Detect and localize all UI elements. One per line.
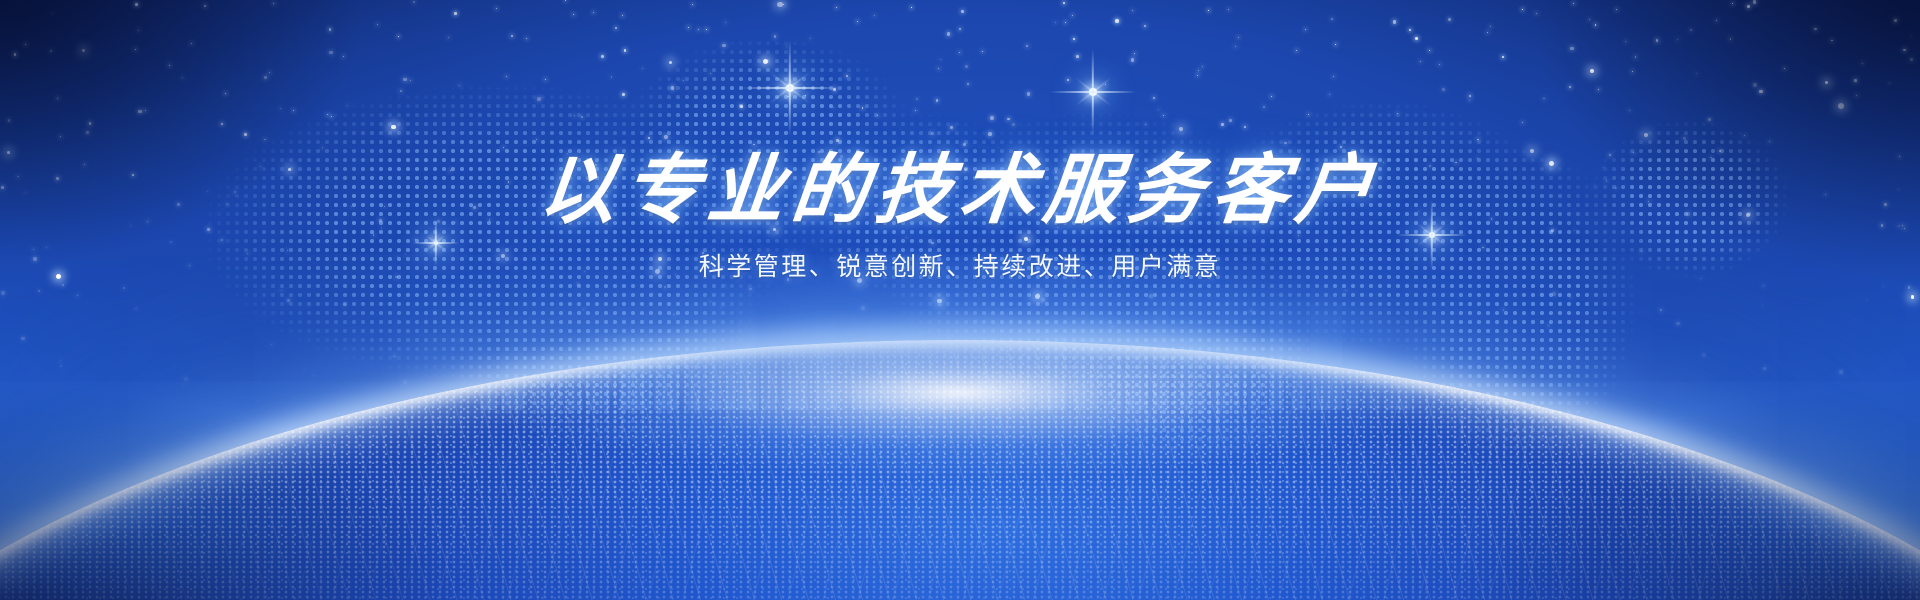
star bbox=[675, 274, 676, 275]
star bbox=[1687, 212, 1690, 215]
star bbox=[598, 288, 599, 289]
star bbox=[652, 293, 653, 294]
star bbox=[836, 7, 837, 8]
star bbox=[840, 155, 843, 158]
star bbox=[1574, 230, 1575, 231]
star bbox=[84, 164, 85, 165]
star bbox=[1744, 135, 1745, 136]
star bbox=[931, 132, 935, 136]
star bbox=[861, 306, 865, 310]
star bbox=[1439, 64, 1440, 65]
star bbox=[1883, 286, 1885, 288]
star bbox=[1331, 18, 1333, 20]
star bbox=[1442, 88, 1445, 91]
star bbox=[489, 219, 491, 221]
star bbox=[1594, 186, 1595, 187]
star bbox=[1238, 37, 1239, 38]
flare-ray bbox=[1417, 223, 1446, 246]
star bbox=[1716, 20, 1717, 21]
star bbox=[584, 271, 586, 273]
star bbox=[1270, 159, 1273, 162]
star-bright bbox=[1838, 103, 1844, 109]
star-bright bbox=[1549, 161, 1555, 167]
star bbox=[1696, 73, 1697, 74]
star bbox=[1477, 139, 1478, 140]
star bbox=[138, 30, 140, 32]
star bbox=[1109, 279, 1110, 280]
star bbox=[130, 225, 131, 226]
star bbox=[1229, 119, 1232, 122]
star-bright bbox=[1035, 294, 1040, 299]
star bbox=[1753, 0, 1756, 3]
star bbox=[1012, 123, 1015, 126]
star bbox=[1894, 19, 1898, 23]
star bbox=[1090, 211, 1091, 212]
star bbox=[1134, 53, 1135, 54]
star bbox=[1616, 9, 1618, 11]
star-bright bbox=[857, 278, 862, 283]
star-bright bbox=[658, 257, 662, 261]
star bbox=[595, 164, 597, 166]
star bbox=[373, 234, 375, 236]
star bbox=[916, 98, 918, 100]
star bbox=[1884, 203, 1887, 206]
star bbox=[1656, 39, 1659, 42]
star bbox=[787, 278, 790, 281]
star bbox=[1055, 22, 1056, 23]
banner-headline: 以专业的技术服务客户 bbox=[536, 152, 1384, 228]
star bbox=[496, 8, 497, 9]
star bbox=[260, 166, 261, 167]
star bbox=[1502, 56, 1504, 58]
star bbox=[931, 242, 934, 245]
star bbox=[226, 203, 228, 205]
star bbox=[1547, 324, 1550, 327]
star bbox=[877, 115, 878, 116]
star bbox=[537, 97, 541, 101]
star bbox=[343, 56, 344, 57]
star bbox=[14, 53, 16, 55]
star-bright bbox=[56, 274, 61, 279]
star bbox=[828, 152, 829, 153]
star bbox=[384, 206, 385, 207]
star bbox=[169, 65, 170, 66]
star bbox=[1369, 241, 1370, 242]
star bbox=[1677, 39, 1678, 40]
star bbox=[182, 77, 183, 78]
star-bright bbox=[1911, 295, 1914, 298]
star bbox=[511, 35, 513, 37]
star bbox=[1769, 141, 1770, 142]
star bbox=[1732, 3, 1733, 4]
star bbox=[787, 96, 788, 97]
star bbox=[874, 15, 875, 16]
star bbox=[33, 257, 37, 261]
star bbox=[454, 12, 456, 14]
star bbox=[1041, 298, 1045, 302]
star bbox=[398, 36, 399, 37]
star bbox=[1144, 25, 1146, 27]
flare-ray bbox=[1075, 78, 1111, 107]
star bbox=[135, 3, 138, 6]
star bbox=[60, 136, 61, 137]
star bbox=[526, 38, 527, 39]
star bbox=[1132, 10, 1133, 11]
star bbox=[1753, 83, 1757, 87]
star bbox=[1397, 113, 1398, 114]
star bbox=[725, 285, 726, 286]
flare-ray bbox=[426, 235, 446, 251]
star bbox=[1029, 256, 1030, 257]
star bbox=[576, 282, 580, 286]
star bbox=[400, 90, 401, 91]
star bbox=[1076, 55, 1079, 58]
star bbox=[648, 137, 650, 139]
flare-ray bbox=[413, 242, 459, 244]
banner-content: 以专业的技术服务客户 科学管理、锐意创新、持续改进、用户满意 bbox=[0, 0, 1920, 279]
star bbox=[1244, 126, 1246, 128]
star bbox=[413, 1, 415, 3]
star bbox=[1908, 286, 1911, 289]
star bbox=[1609, 154, 1611, 156]
star bbox=[1063, 2, 1064, 3]
star bbox=[1393, 20, 1396, 23]
star bbox=[720, 268, 721, 269]
star bbox=[1033, 285, 1034, 286]
glowing-earth-horizon bbox=[0, 340, 1920, 600]
banner-subtitle: 科学管理、锐意创新、持续改进、用户满意 bbox=[0, 254, 1920, 279]
star bbox=[1198, 70, 1199, 71]
star bbox=[455, 222, 456, 223]
star bbox=[673, 313, 675, 315]
flare-ray bbox=[789, 40, 791, 136]
star bbox=[1333, 76, 1334, 77]
star bbox=[1603, 167, 1604, 168]
star bbox=[1158, 109, 1159, 110]
star bbox=[536, 139, 537, 140]
flare-ray bbox=[1417, 223, 1446, 246]
star bbox=[615, 27, 617, 29]
star bbox=[753, 144, 754, 145]
star bbox=[1010, 231, 1012, 233]
star bbox=[8, 119, 10, 121]
star bbox=[1354, 181, 1355, 182]
star bbox=[1056, 257, 1057, 258]
star bbox=[1253, 229, 1254, 230]
star bbox=[1625, 41, 1626, 42]
star bbox=[503, 147, 504, 148]
star bbox=[33, 249, 34, 250]
flare-ray bbox=[1075, 78, 1111, 107]
star bbox=[293, 110, 294, 111]
star bbox=[545, 79, 546, 80]
star bbox=[1409, 29, 1411, 31]
star bbox=[1153, 97, 1154, 98]
star bbox=[593, 12, 594, 13]
star bbox=[191, 43, 193, 45]
star bbox=[702, 252, 703, 253]
star bbox=[1455, 162, 1457, 164]
star bbox=[783, 4, 784, 5]
star bbox=[911, 7, 912, 8]
star-bright bbox=[1530, 149, 1535, 154]
star bbox=[1683, 137, 1686, 140]
star bbox=[1131, 58, 1134, 61]
star bbox=[710, 73, 711, 74]
star bbox=[170, 241, 172, 243]
star bbox=[264, 76, 267, 79]
star bbox=[1814, 28, 1817, 31]
star bbox=[57, 98, 58, 99]
star bbox=[672, 157, 675, 160]
star bbox=[25, 192, 26, 193]
star bbox=[1007, 118, 1010, 121]
star bbox=[1111, 326, 1113, 328]
star bbox=[749, 288, 752, 291]
star bbox=[1298, 235, 1299, 236]
star bbox=[1856, 95, 1857, 96]
star bbox=[1759, 90, 1763, 94]
star bbox=[740, 105, 744, 109]
city-light-streaks bbox=[0, 340, 1920, 600]
star bbox=[939, 303, 943, 307]
star bbox=[664, 286, 667, 289]
star bbox=[379, 219, 382, 222]
star bbox=[889, 178, 890, 179]
star bbox=[1573, 3, 1574, 4]
star bbox=[189, 265, 190, 266]
star bbox=[1228, 9, 1229, 10]
star bbox=[940, 59, 941, 60]
star bbox=[450, 170, 451, 171]
star-bright bbox=[288, 168, 291, 171]
star bbox=[786, 46, 788, 48]
star bbox=[833, 88, 836, 91]
star bbox=[207, 191, 208, 192]
star bbox=[1469, 100, 1470, 101]
star bbox=[834, 260, 835, 261]
star bbox=[1235, 46, 1236, 47]
star bbox=[1690, 29, 1692, 31]
star bbox=[805, 95, 807, 97]
star bbox=[403, 78, 407, 82]
star bbox=[1701, 187, 1702, 188]
star bbox=[132, 174, 134, 176]
star bbox=[77, 295, 78, 296]
star bbox=[25, 44, 26, 45]
star bbox=[1629, 110, 1630, 111]
star bbox=[1490, 26, 1491, 27]
star bbox=[573, 14, 574, 15]
star bbox=[1345, 290, 1346, 291]
star bbox=[56, 177, 59, 180]
star bbox=[977, 320, 978, 321]
star bbox=[1700, 278, 1702, 280]
star bbox=[89, 122, 92, 125]
star bbox=[601, 55, 604, 58]
star bbox=[1570, 47, 1573, 50]
star bbox=[683, 80, 684, 81]
star bbox=[52, 13, 53, 14]
star bbox=[327, 114, 328, 115]
star bbox=[1169, 302, 1170, 303]
star bbox=[322, 147, 323, 148]
star bbox=[642, 68, 643, 69]
star bbox=[982, 51, 983, 52]
star bbox=[1632, 71, 1633, 72]
star bbox=[448, 37, 449, 38]
star bbox=[1263, 106, 1265, 108]
star-bright bbox=[1746, 213, 1750, 217]
star-bright bbox=[937, 299, 942, 304]
flare-core bbox=[1429, 232, 1435, 238]
star bbox=[247, 253, 248, 254]
star bbox=[664, 135, 668, 139]
flare-ray bbox=[742, 87, 838, 89]
star bbox=[1503, 309, 1504, 310]
star bbox=[671, 86, 675, 90]
star bbox=[506, 76, 507, 77]
star bbox=[940, 164, 943, 167]
star bbox=[792, 253, 793, 254]
star bbox=[1522, 9, 1523, 10]
star bbox=[1383, 162, 1384, 163]
star bbox=[1825, 194, 1826, 195]
star bbox=[627, 271, 628, 272]
star-bright bbox=[1644, 133, 1649, 138]
star-bright bbox=[1825, 81, 1828, 84]
star bbox=[329, 28, 332, 31]
star-bright bbox=[7, 151, 10, 154]
star bbox=[1904, 228, 1905, 229]
star bbox=[1411, 332, 1412, 333]
star bbox=[297, 186, 298, 187]
star bbox=[1487, 32, 1488, 33]
star bbox=[1268, 198, 1270, 200]
star bbox=[221, 123, 223, 125]
star bbox=[1418, 211, 1419, 212]
star bbox=[1784, 68, 1785, 69]
star bbox=[473, 206, 476, 209]
star bbox=[207, 228, 210, 231]
star bbox=[1115, 19, 1119, 23]
star bbox=[135, 308, 137, 310]
star bbox=[1747, 5, 1750, 8]
star bbox=[221, 239, 223, 241]
star bbox=[331, 116, 332, 117]
star bbox=[1902, 225, 1903, 226]
star bbox=[234, 191, 236, 193]
hero-banner: 以专业的技术服务客户 科学管理、锐意创新、持续改进、用户满意 bbox=[0, 0, 1920, 600]
star bbox=[1482, 247, 1484, 249]
star bbox=[86, 131, 89, 134]
star bbox=[1708, 118, 1711, 121]
flare-ray bbox=[770, 72, 810, 104]
star bbox=[721, 307, 722, 308]
star bbox=[434, 312, 435, 313]
star bbox=[508, 181, 509, 182]
star bbox=[818, 151, 820, 153]
star bbox=[1210, 276, 1212, 278]
star bbox=[1387, 312, 1388, 313]
star bbox=[948, 336, 950, 338]
star bbox=[1027, 92, 1031, 96]
flare-ray bbox=[1397, 234, 1467, 236]
star bbox=[1163, 115, 1164, 116]
star bbox=[1635, 56, 1637, 58]
star bbox=[1606, 180, 1608, 182]
star bbox=[1065, 22, 1066, 23]
star bbox=[1145, 124, 1146, 125]
star bbox=[1197, 75, 1198, 76]
star bbox=[846, 75, 848, 77]
star bbox=[397, 256, 398, 257]
star bbox=[947, 32, 950, 35]
star-bright bbox=[777, 2, 783, 8]
star bbox=[1448, 18, 1451, 21]
star bbox=[1627, 333, 1628, 334]
flare-core bbox=[786, 84, 794, 92]
star bbox=[1641, 251, 1643, 253]
star bbox=[611, 76, 612, 77]
star bbox=[1551, 229, 1554, 232]
star bbox=[1854, 79, 1857, 82]
star bbox=[1903, 49, 1905, 51]
star bbox=[1569, 86, 1571, 88]
star bbox=[1180, 131, 1181, 132]
star bbox=[405, 254, 406, 255]
star bbox=[688, 27, 689, 28]
star bbox=[1105, 84, 1106, 85]
star bbox=[624, 49, 627, 52]
star bbox=[1057, 227, 1058, 228]
star bbox=[581, 116, 583, 118]
star bbox=[676, 149, 677, 150]
star bbox=[177, 203, 180, 206]
star bbox=[123, 287, 125, 289]
star bbox=[698, 29, 699, 30]
star bbox=[574, 115, 575, 116]
star bbox=[725, 22, 727, 24]
star bbox=[138, 110, 142, 114]
star-bright bbox=[763, 59, 768, 64]
star bbox=[395, 276, 398, 279]
star-bright bbox=[1590, 69, 1594, 73]
flare-ray bbox=[435, 220, 437, 266]
star bbox=[1866, 299, 1867, 300]
star bbox=[1031, 310, 1032, 311]
star bbox=[281, 290, 282, 291]
star bbox=[607, 191, 608, 192]
star-bright bbox=[847, 198, 853, 204]
star-bright bbox=[501, 254, 505, 258]
star bbox=[1340, 146, 1342, 148]
star bbox=[1221, 123, 1224, 126]
star bbox=[1125, 218, 1126, 219]
star bbox=[963, 143, 966, 146]
star bbox=[1899, 156, 1900, 157]
star bbox=[1597, 331, 1599, 333]
star bbox=[915, 110, 916, 111]
star bbox=[287, 299, 290, 302]
star bbox=[961, 10, 964, 13]
star bbox=[1762, 305, 1763, 306]
star bbox=[1598, 89, 1599, 90]
star bbox=[287, 250, 288, 251]
star bbox=[1429, 50, 1430, 51]
star bbox=[565, 0, 566, 1]
star bbox=[1522, 122, 1523, 123]
